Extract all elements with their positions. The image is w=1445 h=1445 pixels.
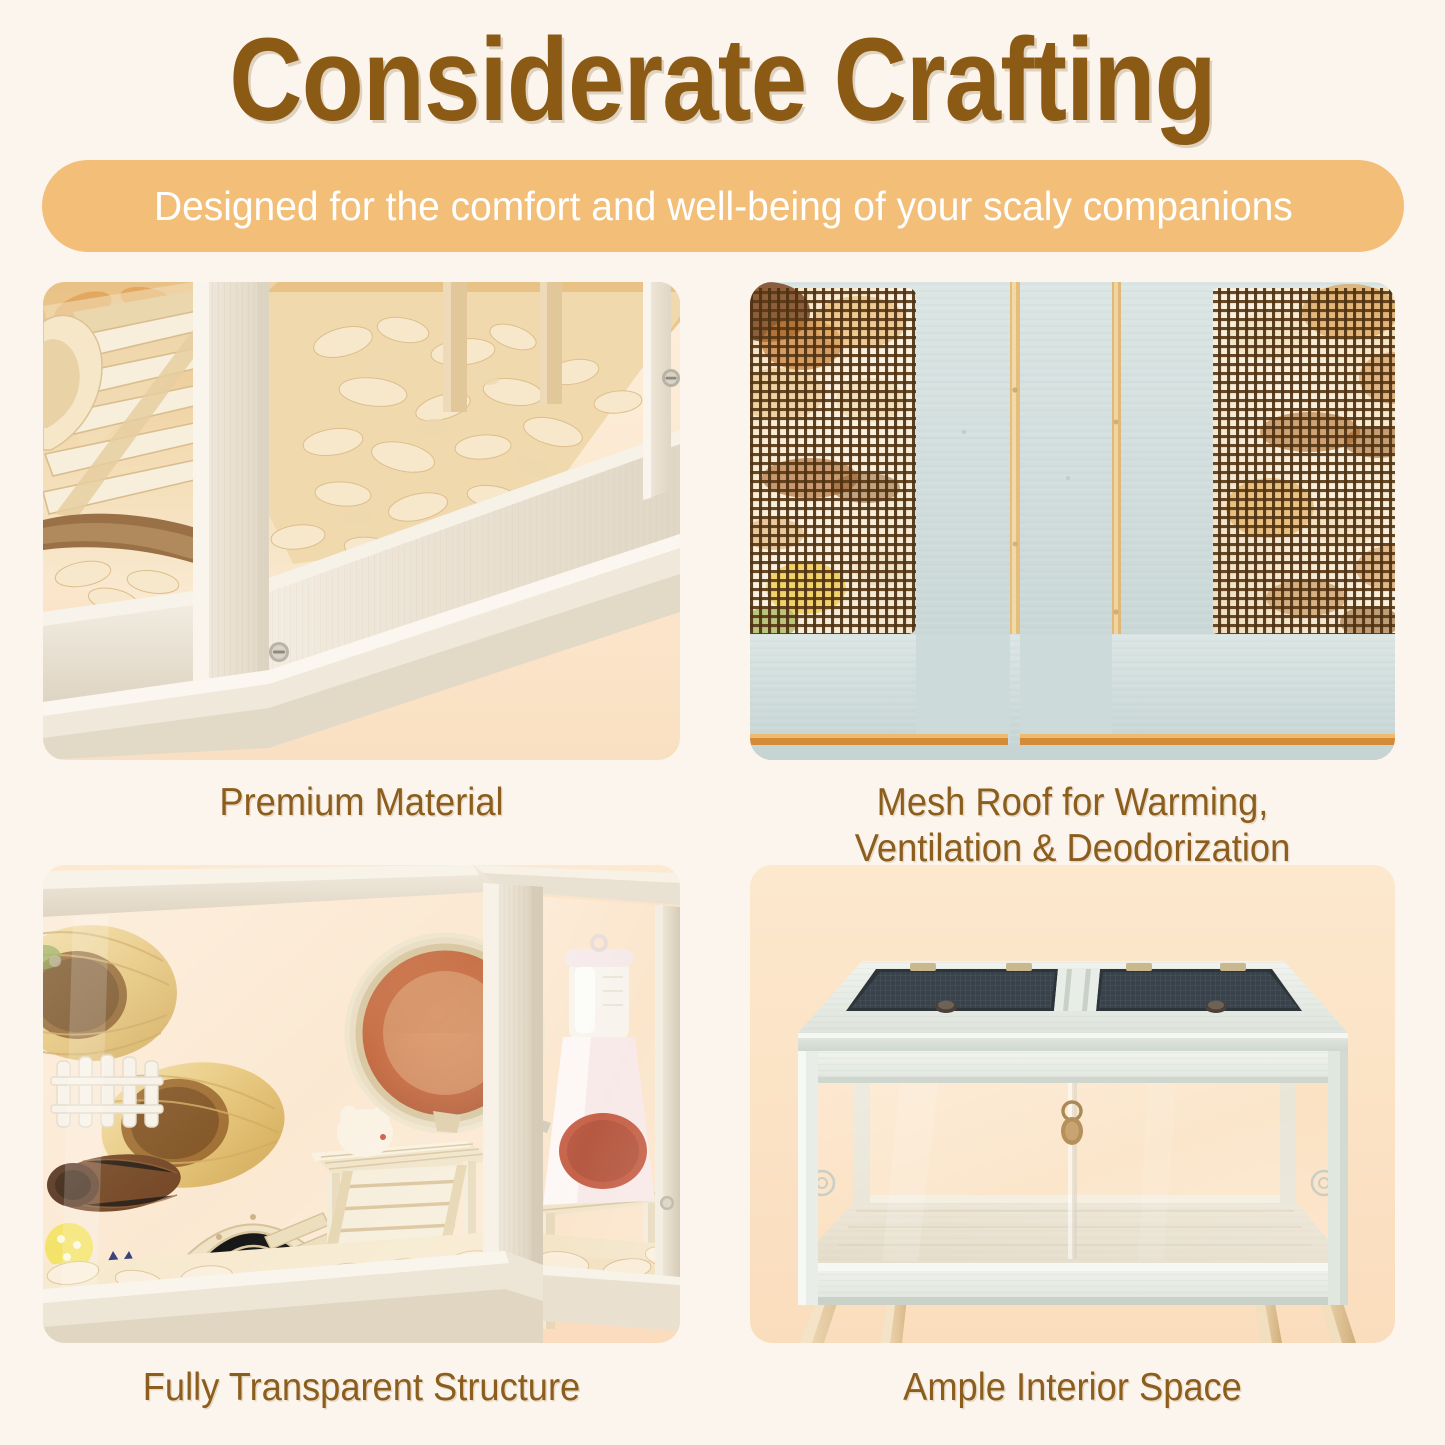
feature-panel-mesh-roof: Mesh Roof for Warming, Ventilation & Deo…: [750, 282, 1395, 760]
feature-grid: Premium Material: [0, 262, 1445, 1445]
caption-mesh-roof: Mesh Roof for Warming, Ventilation & Deo…: [773, 780, 1373, 872]
page-title: Considerate Crafting: [101, 14, 1344, 146]
photo-transparent-structure: [43, 865, 680, 1343]
caption-line-2: Ventilation & Deodorization: [855, 827, 1291, 870]
subtitle-banner: Designed for the comfort and well-being …: [42, 160, 1404, 252]
feature-panel-ample-interior-space: Ample Interior Space: [750, 865, 1395, 1343]
photo-mesh-roof: [750, 282, 1395, 760]
feature-panel-premium-material: Premium Material: [43, 282, 680, 760]
caption-premium-material: Premium Material: [65, 780, 657, 826]
header: Considerate Crafting Designed for the co…: [0, 0, 1445, 262]
feature-panel-transparent-structure: Fully Transparent Structure: [43, 865, 680, 1343]
caption-line-1: Mesh Roof for Warming,: [877, 781, 1269, 824]
subtitle-text: Designed for the comfort and well-being …: [154, 183, 1293, 230]
caption-ample-interior-space: Ample Interior Space: [773, 1365, 1373, 1411]
photo-premium-material: [43, 282, 680, 760]
caption-transparent-structure: Fully Transparent Structure: [65, 1365, 657, 1411]
photo-ample-interior-space: [750, 865, 1395, 1343]
